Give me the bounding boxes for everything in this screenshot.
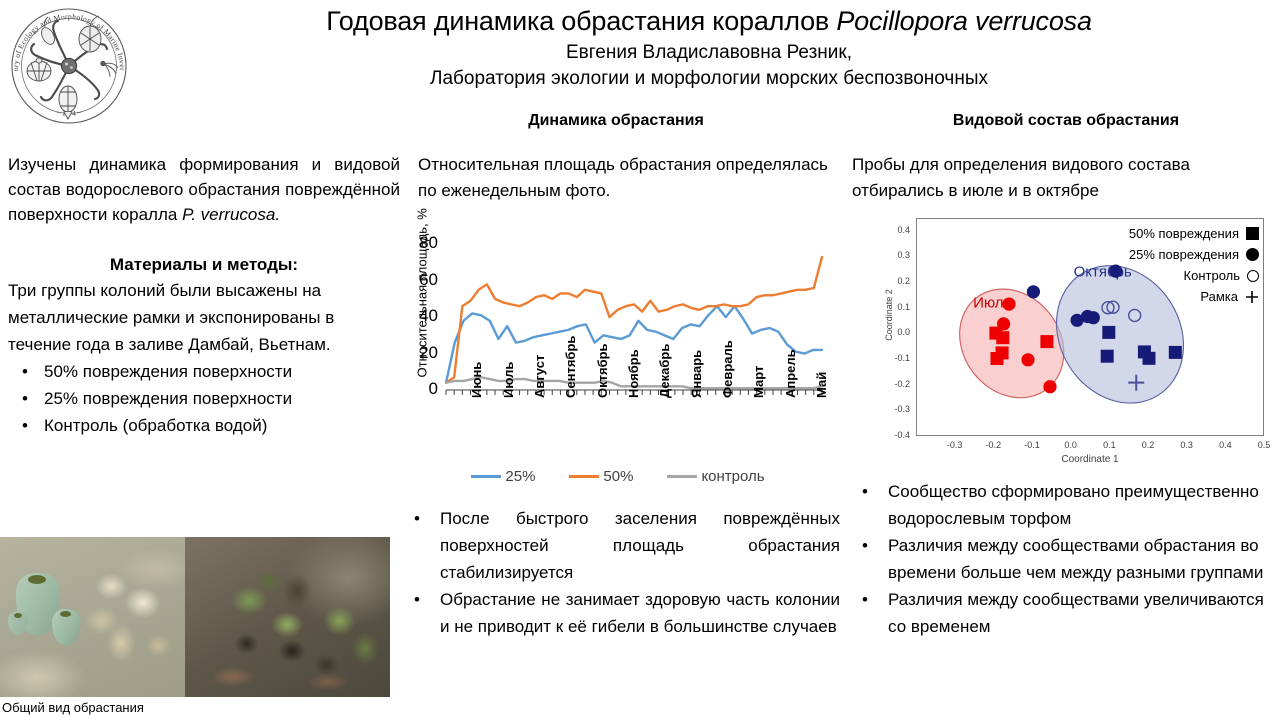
section-heading-species: Видовой состав обрастания	[852, 112, 1280, 130]
title-block: Годовая динамика обрастания кораллов Poc…	[140, 4, 1278, 92]
mds-x-axis-label: Coordinate 1	[916, 454, 1264, 465]
mds-x-tick: -0.2	[978, 440, 1008, 450]
line-chart-x-tick: Декабрь	[657, 344, 672, 398]
mds-y-tick: 0.3	[884, 250, 910, 260]
fouling-dynamics-line-chart: Относительная площадь, % 020406080 ИюньИ…	[404, 212, 828, 492]
photo-coral-colony	[82, 555, 180, 681]
methods-heading: Материалы и методы:	[8, 255, 400, 275]
middle-column: Относительная площадь обрастания определ…	[404, 152, 828, 204]
open-circle-icon	[1247, 270, 1259, 282]
mds-y-tick: 0.4	[884, 225, 910, 235]
mds-y-tick: 0.1	[884, 302, 910, 312]
mds-legend: 50% повреждения25% поврежденияКонтрольРа…	[1073, 223, 1259, 307]
line-chart-y-tick: 40	[404, 306, 438, 326]
title-species-name: Pocillopora verrucosa	[836, 6, 1091, 36]
line-chart-x-tick: Апрель	[783, 349, 798, 398]
author-name: Евгения Владиславовна Резник,	[140, 40, 1278, 66]
mds-data-point	[1087, 311, 1100, 324]
photo-reddish-turf-layer	[195, 647, 385, 697]
species-intro-paragraph: Пробы для определения видового состава о…	[852, 152, 1280, 204]
line-chart-x-tick: Март	[751, 366, 766, 398]
photo-row	[0, 537, 390, 697]
mds-data-point	[1143, 352, 1156, 365]
line-chart-x-tick: Июнь	[469, 362, 484, 398]
mds-x-tick: 0.4	[1210, 440, 1240, 450]
list-item: Обрастание не занимает здоровую часть ко…	[404, 586, 840, 640]
legend-label: 25% повреждения	[1129, 247, 1239, 262]
filled-square-icon	[1246, 227, 1259, 240]
photo-coral-overview	[0, 537, 185, 697]
mds-data-point	[1102, 326, 1115, 339]
list-item: 25% повреждения поверхности	[8, 385, 400, 412]
mds-data-point	[1043, 380, 1056, 393]
mds-legend-item: Контроль	[1073, 265, 1259, 286]
section-heading-dynamics: Динамика обрастания	[404, 112, 828, 130]
mds-data-point	[1169, 346, 1182, 359]
mds-x-tick: 0.3	[1172, 440, 1202, 450]
mds-x-tick: 0.0	[1056, 440, 1086, 450]
title-main-text: Годовая динамика обрастания кораллов	[326, 6, 836, 36]
legend-label: Рамка	[1200, 289, 1238, 304]
mds-y-tick: -0.3	[884, 404, 910, 414]
mds-x-tick: 0.1	[1094, 440, 1124, 450]
mds-data-point	[991, 352, 1004, 365]
list-item: После быстрого заселения повреждённых по…	[404, 505, 840, 586]
mds-legend-item: 25% повреждения	[1073, 244, 1259, 265]
mds-data-point	[1027, 285, 1040, 298]
list-item: Сообщество сформировано преимущественно …	[852, 478, 1280, 532]
line-chart-x-tick: Февраль	[720, 340, 735, 398]
legend-label: контроль	[701, 468, 764, 485]
line-chart-y-tick: 0	[404, 379, 438, 399]
poster-header: Laboratory of Ecology and Morphology of …	[0, 0, 1280, 104]
dynamics-conclusions-list: После быстрого заселения повреждённых по…	[404, 505, 840, 640]
mds-data-point	[1101, 350, 1114, 363]
photo-fouling-closeup	[185, 537, 390, 697]
mds-legend-item: Рамка	[1073, 286, 1259, 307]
mds-y-tick: -0.1	[884, 353, 910, 363]
mds-legend-item: 50% повреждения	[1073, 223, 1259, 244]
mds-plot-area: ИюльОктябрь 50% повреждения25% поврежден…	[916, 218, 1264, 436]
laboratory-name: Лаборатория экологии и морфологии морски…	[140, 66, 1278, 92]
mds-y-tick: -0.4	[884, 430, 910, 440]
line-chart-x-tick: Август	[532, 355, 547, 398]
mds-data-point	[1002, 298, 1015, 311]
line-chart-legend-item: 25%	[471, 468, 535, 485]
dynamics-intro-paragraph: Относительная площадь обрастания определ…	[404, 152, 828, 204]
laboratory-logo-icon: Laboratory of Ecology and Morphology of …	[6, 2, 132, 128]
line-chart-x-tick: Сентябрь	[563, 336, 578, 398]
right-column: Пробы для определения видового состава о…	[852, 152, 1280, 204]
filled-circle-icon	[1246, 248, 1259, 261]
list-item: Различия между сообществами обрастания в…	[852, 532, 1280, 586]
page-title: Годовая динамика обрастания кораллов Poc…	[140, 4, 1278, 38]
line-chart-y-tick: 80	[404, 233, 438, 253]
line-chart-x-tick: Ноябрь	[626, 349, 641, 398]
species-conclusions-list: Сообщество сформировано преимущественно …	[852, 478, 1280, 640]
mds-data-point	[1040, 335, 1053, 348]
line-chart-y-tick: 60	[404, 270, 438, 290]
line-chart-x-tick: Октябрь	[595, 343, 610, 398]
mds-y-axis-label: Coordinate 2	[884, 275, 894, 355]
mds-x-tick: 0.5	[1249, 440, 1279, 450]
legend-label: 50%	[603, 468, 633, 485]
intro-species-name: P. verrucosa.	[182, 205, 280, 224]
line-chart-y-tick: 20	[404, 343, 438, 363]
line-chart-legend-item: 50%	[569, 468, 633, 485]
list-item: Контроль (обработка водой)	[8, 412, 400, 439]
legend-label: Контроль	[1184, 268, 1240, 283]
photo-caption: Общий вид обрастания	[2, 700, 144, 715]
mds-x-tick: -0.1	[1017, 440, 1047, 450]
mds-data-point	[996, 331, 1009, 344]
line-chart-x-tick: Май	[814, 372, 829, 398]
legend-label: 25%	[505, 468, 535, 485]
left-column: Изучены динамика формирования и видовой …	[8, 152, 400, 439]
methods-paragraph: Три группы колоний были высажены на мета…	[8, 277, 400, 358]
line-chart-x-tick: Июль	[501, 362, 516, 398]
line-chart-legend-item: контроль	[667, 468, 764, 485]
mds-data-point	[1021, 353, 1034, 366]
mds-y-tick: 0.2	[884, 276, 910, 286]
legend-color-swatch	[471, 475, 501, 478]
mds-y-tick: 0.0	[884, 327, 910, 337]
mds-scatter-chart: Coordinate 2 0.40.30.20.10.0-0.1-0.2-0.3…	[872, 214, 1274, 466]
list-item: Различия между сообществами увеличиваютс…	[852, 586, 1280, 640]
plus-icon	[1245, 290, 1259, 304]
legend-color-swatch	[569, 475, 599, 478]
mds-x-tick: -0.3	[940, 440, 970, 450]
legend-label: 50% повреждения	[1129, 226, 1239, 241]
list-item: 50% повреждения поверхности	[8, 358, 400, 385]
line-chart-x-tick: Январь	[689, 350, 704, 398]
line-chart-legend: 25%50%контроль	[418, 468, 818, 485]
intro-paragraph: Изучены динамика формирования и видовой …	[8, 152, 400, 227]
methods-list: 50% повреждения поверхности 25% поврежде…	[8, 358, 400, 439]
mds-x-tick: 0.2	[1133, 440, 1163, 450]
legend-color-swatch	[667, 475, 697, 478]
mds-y-tick: -0.2	[884, 379, 910, 389]
